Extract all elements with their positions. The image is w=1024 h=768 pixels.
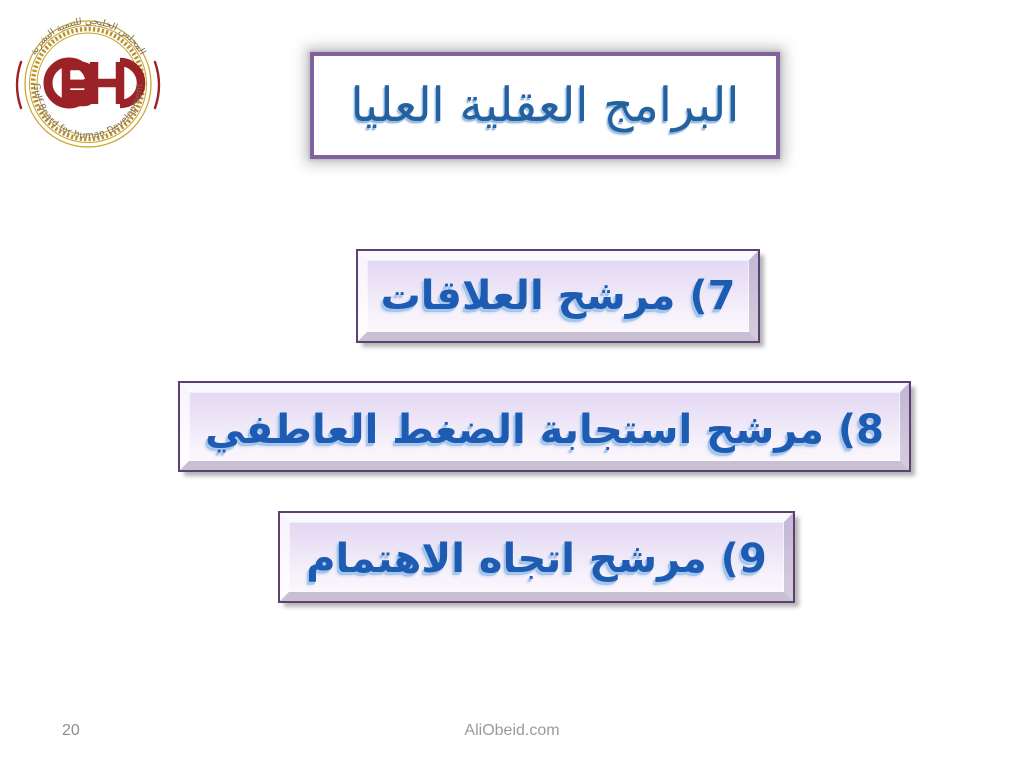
slide-title-box: البرامج العقلية العليا [310,52,780,159]
footer-website: AliObeid.com [0,722,1024,740]
list-item-8-label: 8) مرشح استجابة الضغط العاطفي [205,407,884,453]
list-item-9-label: 9) مرشح اتجاه الاهتمام [306,536,767,582]
page-title: البرامج العقلية العليا [351,81,740,130]
gbh-logo: المجلس الخليجي للتنمية البشرية Gulf Boar… [8,4,168,164]
list-item-9[interactable]: 9) مرشح اتجاه الاهتمام [278,511,795,603]
list-item-7-label: 7) مرشح العلاقات [381,273,736,319]
list-item-8[interactable]: 8) مرشح استجابة الضغط العاطفي [178,381,911,472]
slide-canvas: المجلس الخليجي للتنمية البشرية Gulf Boar… [0,0,1024,768]
list-item-7[interactable]: 7) مرشح العلاقات [356,249,760,343]
